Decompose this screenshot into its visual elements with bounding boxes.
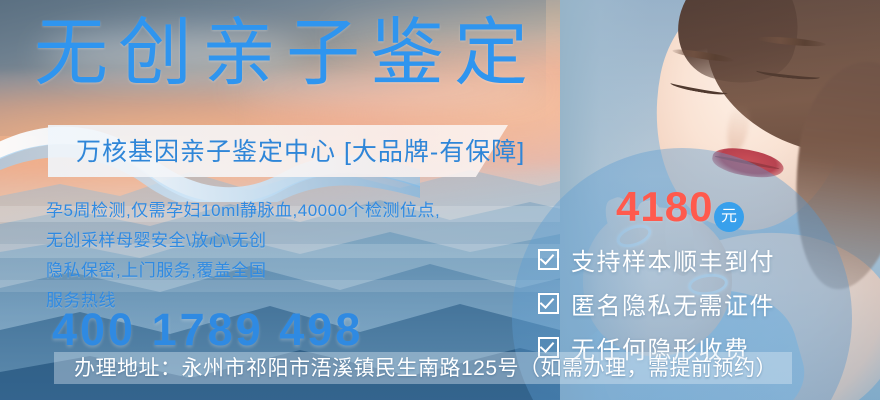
feature-item-1: 支持样本顺丰到付 [538, 240, 775, 278]
feature-label-1: 支持样本顺丰到付 [571, 242, 775, 277]
checkbox-checked-icon [538, 249, 559, 270]
price-unit-badge: 元 [714, 202, 744, 232]
body-line-2: 无创采样母婴安全\放心\无创 [46, 226, 440, 256]
feature-item-2: 匿名隐私无需证件 [538, 284, 775, 322]
hotline-phone-number[interactable]: 400 1789 498 [52, 307, 363, 352]
parentage-test-ad-banner: 万核基因亲子鉴定中心 [大品牌-有保障] 无创亲子鉴定 孕5周检测,仅需孕妇10… [0, 0, 880, 400]
feature-label-2: 匿名隐私无需证件 [571, 286, 775, 321]
body-line-1: 孕5周检测,仅需孕妇10ml静脉血,40000个检测位点, [46, 196, 440, 226]
subtitle-text: 万核基因亲子鉴定中心 [大品牌-有保障] [76, 137, 525, 167]
body-line-3: 隐私保密,上门服务,覆盖全国 [46, 256, 440, 286]
price-amount: 4180 [616, 186, 713, 228]
body-copy: 孕5周检测,仅需孕妇10ml静脉血,40000个检测位点, 无创采样母婴安全\放… [46, 196, 440, 316]
checkbox-checked-icon [538, 293, 559, 314]
page-title: 无创亲子鉴定 [34, 16, 538, 90]
address-text: 办理地址：永州市祁阳市浯溪镇民生南路125号（如需办理，需提前预约） [74, 355, 777, 382]
